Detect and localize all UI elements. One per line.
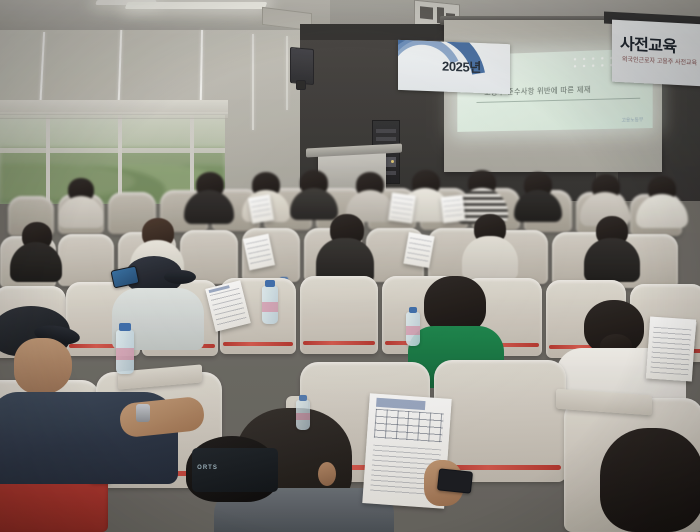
window-mullion-3: [190, 110, 194, 202]
handout: [441, 195, 466, 223]
handout: [388, 192, 416, 223]
banner-right-subtext: 외국인근로자 고용주 사전교육: [622, 54, 697, 67]
slide-logo: 고용노동부: [622, 117, 644, 124]
attendee-torso: [584, 238, 640, 282]
window-header-rail: [0, 148, 225, 153]
form-table-grid: [373, 409, 444, 442]
seat-trim: [303, 341, 375, 345]
banner-right-text: 사전교육: [620, 30, 676, 57]
window-blind-2: [0, 112, 228, 119]
seat-trim: [223, 342, 293, 346]
water-bottle: [296, 400, 310, 430]
attendee-face: [14, 338, 72, 394]
cap-brim: [164, 270, 196, 284]
handout-lines: [650, 327, 691, 375]
speaker-bracket: [296, 80, 306, 90]
form-header-bar: [376, 398, 426, 410]
attendee-ear: [318, 462, 336, 486]
water-bottle: [406, 312, 420, 346]
wall-seam-5: [286, 36, 288, 110]
water-bottle: [262, 286, 278, 324]
ceiling-light-2: [95, 0, 157, 5]
window-mullion-2: [118, 108, 122, 204]
banner-left: 2025년: [398, 40, 510, 94]
handout: [646, 316, 696, 381]
attendee-torso: [462, 236, 518, 280]
rack-led: [391, 160, 394, 163]
window-mullion-1: [46, 108, 50, 204]
water-bottle: [116, 330, 134, 374]
banner-left-text: 2025년: [442, 56, 481, 76]
slide-divider: [477, 98, 641, 103]
bag-text: ORTS: [197, 465, 218, 471]
smartphone: [437, 468, 473, 493]
lecture-hall-photo: 5 고용주 준수사항 위반에 따른 제재 고용노동부 2025년 사전교육 외국…: [0, 0, 700, 532]
banner-right: 사전교육 외국인근로자 고용주 사전교육: [612, 20, 700, 87]
wall-seam-4: [252, 34, 254, 130]
sports-bag: ORTS: [192, 448, 278, 492]
wristwatch: [136, 404, 150, 422]
handout: [403, 232, 434, 268]
seat: [58, 234, 114, 286]
seat: [300, 276, 378, 354]
handout: [248, 194, 274, 223]
attendee-head: [600, 428, 700, 532]
